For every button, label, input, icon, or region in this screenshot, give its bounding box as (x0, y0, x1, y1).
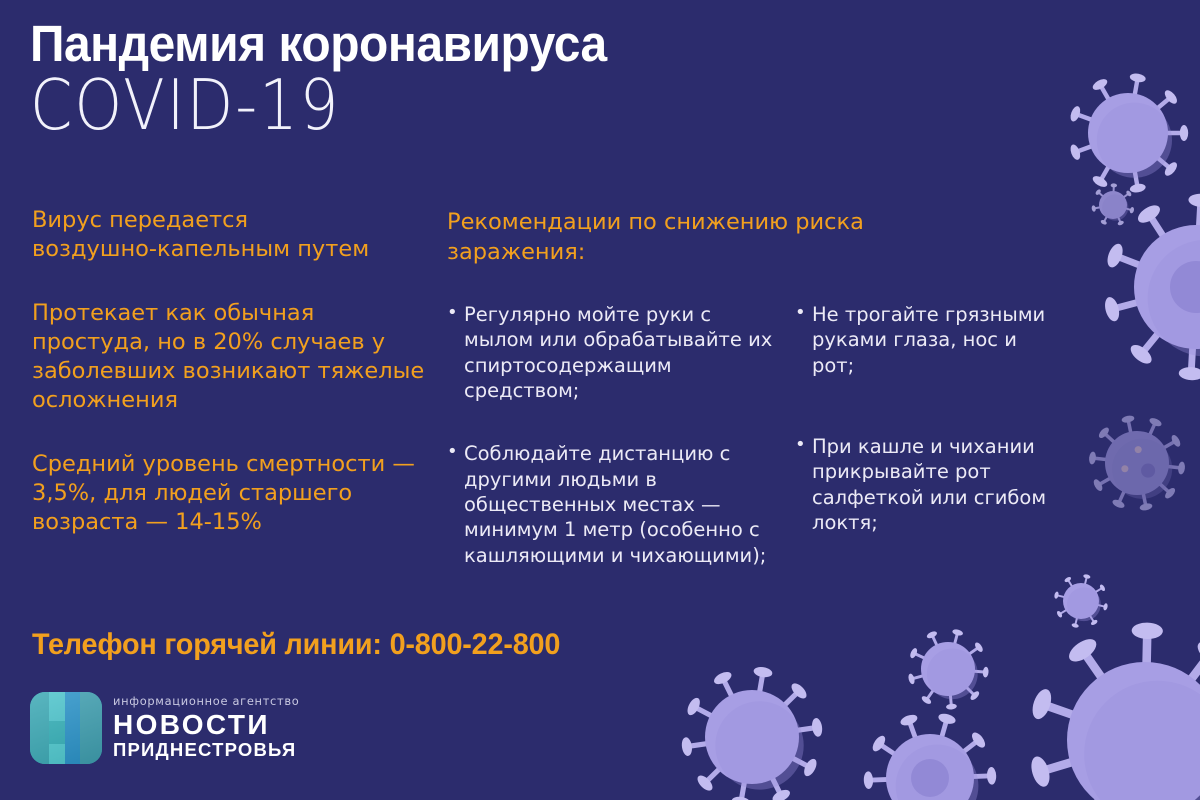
list-item: При кашле и чихании прикрывайте рот салф… (795, 434, 1065, 535)
logo-mark-icon (30, 692, 102, 764)
recommendations-column-left: Регулярно мойте руки с мылом или обрабат… (447, 302, 782, 606)
fact-mortality: Средний уровень смертности — 3,5%, для л… (32, 450, 432, 538)
facts-column: Вирус передаетсявоздушно-капельным путем… (32, 206, 432, 537)
list-item: Соблюдайте дистанцию с другими людьми в … (447, 441, 782, 568)
hotline-text: Телефон горячей линии: 0-800-22-800 (32, 628, 560, 662)
logo-kicker: информационное агентство (113, 696, 299, 707)
recommendations-heading: Рекомендации по снижению риска заражения… (447, 208, 967, 268)
list-item: Не трогайте грязными руками глаза, нос и… (795, 302, 1065, 378)
recommendations-column-right: Не трогайте грязными руками глаза, нос и… (795, 302, 1065, 573)
agency-logo: информационное агентство НОВОСТИ ПРИДНЕС… (30, 692, 299, 764)
poster-header: Пандемия коронавируса COVID-19 (30, 18, 644, 133)
fact-complications: Протекает как обычная простуда, но в 20%… (32, 299, 432, 416)
logo-region: ПРИДНЕСТРОВЬЯ (113, 740, 299, 759)
fact-transmission: Вирус передаетсявоздушно-капельным путем (32, 206, 432, 265)
page-title: Пандемия коронавируса (30, 18, 607, 69)
covid-infographic-poster: Пандемия коронавируса COVID-19 Вирус пер… (0, 0, 1200, 800)
list-item: Регулярно мойте руки с мылом или обрабат… (447, 302, 782, 403)
logo-name: НОВОСТИ (113, 711, 299, 740)
page-subtitle: COVID-19 (30, 71, 631, 140)
